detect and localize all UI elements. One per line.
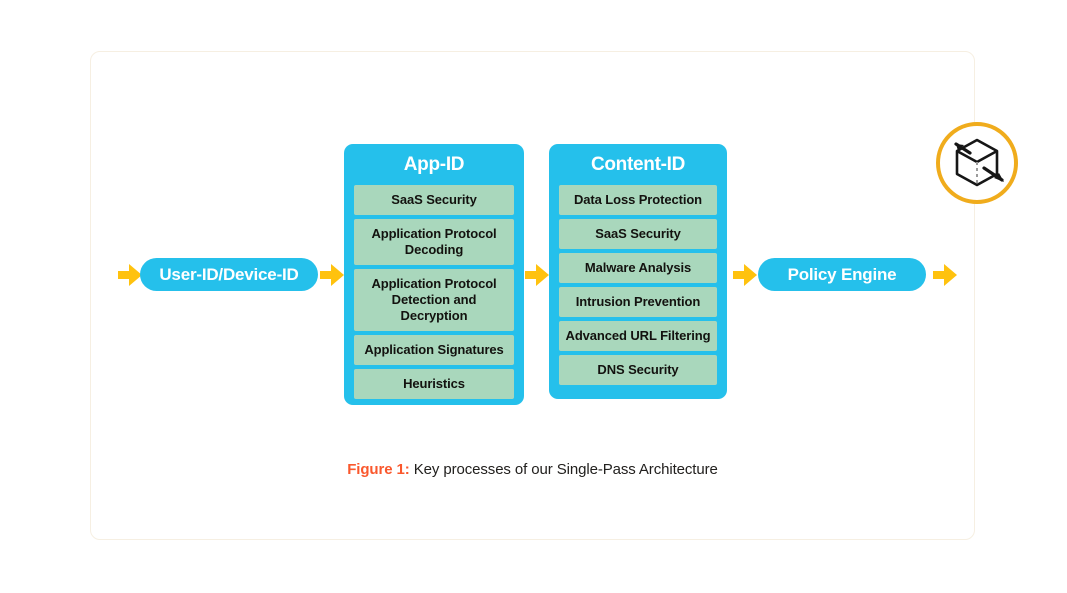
arrow-head	[744, 264, 757, 286]
stage-app-id-title: App-ID	[354, 144, 514, 185]
stage-item[interactable]: Intrusion Prevention	[559, 287, 717, 317]
stage-app-id: App-ID SaaS Security Application Protoco…	[344, 144, 524, 405]
figure-caption-text: Key processes of our Single-Pass Archite…	[410, 461, 718, 478]
stage-item[interactable]: Data Loss Protection	[559, 185, 717, 215]
stage-content-id-items: Data Loss Protection SaaS Security Malwa…	[559, 185, 717, 385]
arrow-contentid-to-policy	[733, 264, 757, 286]
pill-user-id-device-id[interactable]: User-ID/Device-ID	[140, 258, 318, 291]
arrow-head	[944, 264, 957, 286]
arrow-into-userid	[118, 264, 142, 286]
stage-item[interactable]: SaaS Security	[354, 185, 514, 215]
figure-caption: Figure 1: Key processes of our Single-Pa…	[90, 461, 975, 478]
stage-item[interactable]: Advanced URL Filtering	[559, 321, 717, 351]
stage-item[interactable]: Application Protocol Detection and Decry…	[354, 269, 514, 331]
cube-with-arrow-icon	[940, 126, 1014, 200]
stage-app-id-items: SaaS Security Application Protocol Decod…	[354, 185, 514, 399]
stage-item[interactable]: DNS Security	[559, 355, 717, 385]
pill-policy-engine-label: Policy Engine	[788, 265, 897, 285]
arrow-appid-to-contentid	[525, 264, 549, 286]
pill-policy-engine[interactable]: Policy Engine	[758, 258, 926, 291]
stage-item[interactable]: Application Protocol Decoding	[354, 219, 514, 265]
stage-content-id-title: Content-ID	[559, 144, 717, 185]
stage-content-id: Content-ID Data Loss Protection SaaS Sec…	[549, 144, 727, 399]
single-pass-architecture-diagram: User-ID/Device-ID App-ID SaaS Security A…	[0, 0, 1067, 593]
arrow-out-of-policy	[933, 264, 957, 286]
stage-item[interactable]: Heuristics	[354, 369, 514, 399]
arrow-userid-to-appid	[320, 264, 344, 286]
stage-item[interactable]: SaaS Security	[559, 219, 717, 249]
arrow-head	[536, 264, 549, 286]
stage-item[interactable]: Application Signatures	[354, 335, 514, 365]
pill-user-id-device-id-label: User-ID/Device-ID	[159, 265, 298, 285]
stage-item[interactable]: Malware Analysis	[559, 253, 717, 283]
arrow-head	[331, 264, 344, 286]
cube-with-arrow-logo-badge	[936, 122, 1018, 204]
figure-caption-label: Figure 1:	[347, 461, 409, 478]
